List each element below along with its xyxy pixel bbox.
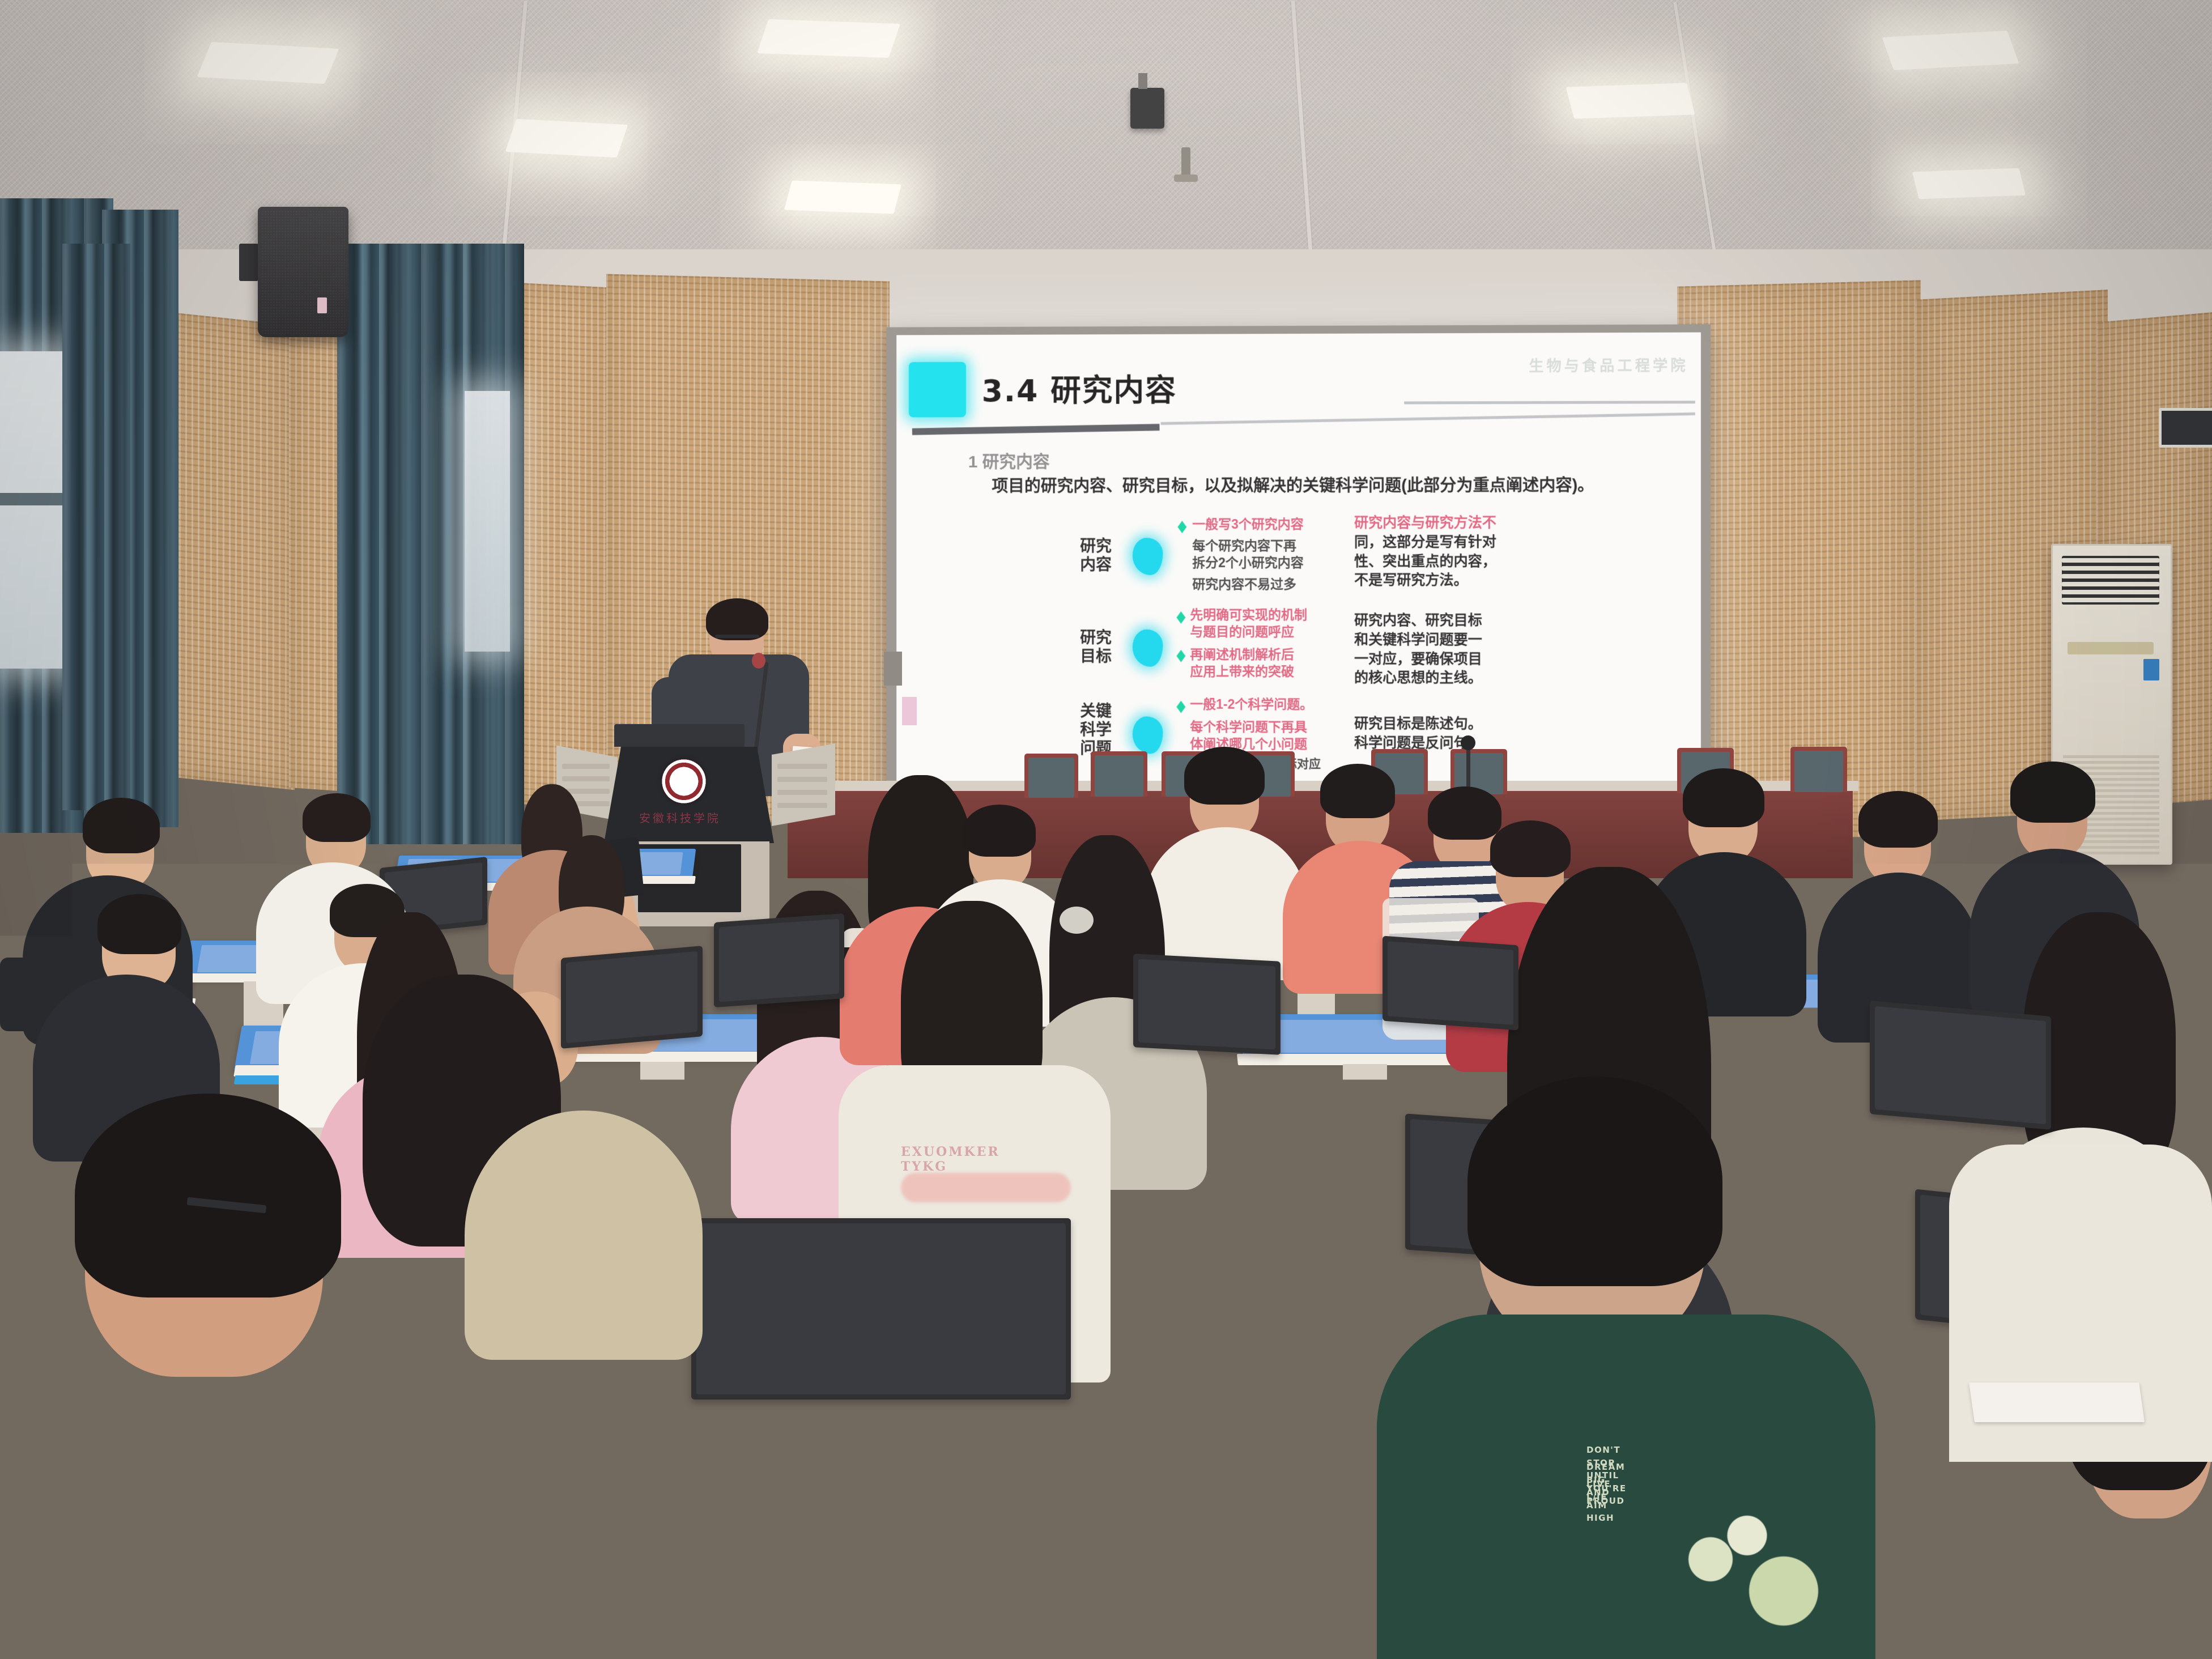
slide-row-1-blob-icon (1133, 538, 1163, 575)
chair-right-1[interactable] (1870, 1001, 2051, 1130)
slide-row-1-right-2: 同，这部分是写有针对 (1354, 533, 1525, 552)
ceiling-light-7 (1912, 168, 2026, 199)
window-right (465, 391, 510, 652)
smartphone-on-desk-center[interactable] (918, 1441, 996, 1500)
slide-row-1-bullet-icon (1177, 521, 1186, 533)
hair-tie-icon (1060, 907, 1094, 934)
slide-content: 3.4 研究内容 生物与食品工程学院 1 研究内容 项目的研究内容、研究目标，以… (896, 333, 1701, 823)
slide-row-3-right-1: 研究目标是陈述句。 (1354, 714, 1525, 734)
slide-row-1-label-line2: 内容 (1065, 555, 1126, 574)
slide-row-3-label: 关键 科学 问题 (1065, 701, 1126, 758)
chair-left-2[interactable] (714, 913, 844, 1007)
front-chair-2 (1091, 751, 1147, 797)
slide-row-2-right-3: 一对应，要确保项目 (1354, 650, 1525, 669)
curtain-window-right (62, 244, 130, 810)
slide-row-3-mid-2: 每个科学问题下再具 (1190, 719, 1338, 736)
ceiling-light-6 (1882, 31, 2019, 70)
slide-rule-dark (912, 424, 1160, 435)
slide-row-2-label-line1: 研究 (1065, 628, 1126, 647)
slide-row-3-mid-1: 一般1-2个科学问题。 (1190, 696, 1338, 713)
paper-on-desk-right-fg (1969, 1382, 2145, 1422)
front-chair-1-back (1028, 758, 1074, 798)
projection-screen: 3.4 研究内容 生物与食品工程学院 1 研究内容 项目的研究内容、研究目标，以… (896, 333, 1701, 823)
wall-monitor (2159, 408, 2212, 448)
slide-row-1-mid-4: 研究内容不易过多 (1192, 576, 1334, 593)
ac-vent-icon (2062, 556, 2159, 605)
presenter-glasses-icon (715, 635, 759, 638)
slide-row-1-label-line1: 研究 (1065, 537, 1126, 555)
chair-left-1[interactable] (561, 946, 703, 1049)
projection-screen-frame: 3.4 研究内容 生物与食品工程学院 1 研究内容 项目的研究内容、研究目标，以… (886, 324, 1711, 831)
student-hair (1490, 820, 1571, 877)
wall-speaker-icon (258, 207, 348, 337)
slide-row-2-middle: 先明确可实现的机制 与题目的问题呼应 再阐述机制解析后 应用上带来的突破 (1190, 607, 1334, 680)
slide-title: 3.4 研究内容 (982, 365, 1177, 411)
slide-row-1-mid-3: 拆分2个小研究内容 (1192, 555, 1334, 572)
window-frame-left (0, 493, 71, 505)
student-torso-plaid (17, 1484, 402, 1659)
student-hair (963, 805, 1036, 857)
slide-row-1-right-3: 性、突出重点的内容， (1354, 552, 1525, 571)
slide-row-3-label-line2: 科学 (1065, 720, 1126, 739)
slide-row-2-right-2: 和关键科学问题要一 (1354, 631, 1525, 650)
slide-row-1-mid-2: 每个研究内容下再 (1192, 538, 1334, 555)
slide-row-2-right-1: 研究内容、研究目标 (1354, 611, 1525, 631)
slide-row-1-label: 研究 内容 (1065, 537, 1126, 574)
podium-nameplate: 安徽科技学院 (639, 809, 721, 826)
ceiling-light-3 (757, 19, 900, 58)
paper-on-desk-center (1313, 1394, 1446, 1428)
chair-left-3[interactable] (1133, 954, 1281, 1055)
front-chair-2-back (1095, 755, 1143, 797)
ceiling-light-5 (1566, 83, 1695, 118)
ceiling-light-4 (784, 181, 901, 214)
podium-laptop (614, 724, 745, 747)
desk-leg (640, 1062, 684, 1121)
slide-row-2-label-line2: 目标 (1065, 647, 1126, 666)
desk-leg (1756, 1027, 1798, 1079)
front-chair-1 (1024, 754, 1078, 798)
slide-row-3-bullet-icon (1176, 701, 1185, 713)
student-torso (465, 1111, 703, 1360)
student-hair (1184, 747, 1265, 805)
lecture-hall-photo: 3.4 研究内容 生物与食品工程学院 1 研究内容 项目的研究内容、研究目标，以… (0, 0, 2212, 1659)
student-hair (1683, 768, 1764, 827)
desk-writing-surface (164, 1388, 1172, 1491)
table-mic-head-icon (1461, 735, 1475, 750)
front-chair-8 (1790, 747, 1847, 792)
speaker-indicator-icon (317, 297, 327, 313)
slide-row-2-bullet-icon-a (1176, 611, 1185, 624)
slide-row-2-mid-2: 与题目的问题呼应 (1190, 624, 1334, 641)
slide-row-1-middle: 一般写3个研究内容 每个研究内容下再 拆分2个小研究内容 研究内容不易过多 (1192, 516, 1334, 593)
chair-center-front[interactable] (691, 1218, 1071, 1399)
slide-row-2-right-4: 的核心思想的主线。 (1354, 669, 1525, 688)
slide-row-2-mid-3: 再阐述机制解析后 (1190, 646, 1334, 663)
student-hair (83, 798, 160, 853)
slide-row-2-bullet-icon-b (1176, 650, 1185, 662)
shirt-flower-graphic (1637, 1496, 1881, 1654)
slide-row-2-mid-4: 应用上带来的突破 (1190, 663, 1334, 680)
dark-bag-on-chair (1235, 1099, 1337, 1207)
slide-row-3-blob-icon (1133, 716, 1163, 754)
shirt-text-green-line3: LIVE L/IE (1586, 1478, 1611, 1503)
student-hair (2010, 762, 2095, 823)
chair-right-2[interactable] (1382, 936, 1518, 1031)
slide-lead-text: 项目的研究内容、研究目标，以及拟解决的关键科学问题(此部分为重点阐述内容)。 (992, 475, 1683, 498)
speaker-bracket (239, 244, 258, 281)
ac-energy-label (2143, 659, 2159, 680)
slide-subtitle: 1 研究内容 (968, 448, 1050, 473)
slide-row-2-mid-1: 先明确可实现的机制 (1190, 607, 1334, 624)
ceiling-light-1 (197, 42, 339, 84)
student-hair (1858, 791, 1938, 848)
slide-row-2-label: 研究 目标 (1065, 628, 1126, 666)
ac-display-panel[interactable] (2068, 642, 2154, 654)
shirt-text-center: EXUOMKER TYKG (901, 1145, 1000, 1174)
student-hair (303, 793, 371, 842)
slide-header-logo: 生物与食品工程学院 (1529, 354, 1688, 376)
slide-rule-light-2 (1161, 412, 1695, 425)
slide-row-2-right: 研究内容、研究目标 和关键科学问题要一 一对应，要确保项目 的核心思想的主线。 (1354, 611, 1525, 688)
window-left (0, 351, 68, 669)
ceiling-light-2 (505, 119, 628, 158)
front-chair-8-back (1794, 751, 1843, 792)
slide-row-2-blob-icon (1133, 629, 1163, 667)
fire-sprinkler-icon (1181, 147, 1190, 177)
slide-row-1-right-4: 不是写研究方法。 (1354, 571, 1525, 590)
student-hair (1467, 1077, 1722, 1286)
ceiling-camera-icon (1130, 88, 1164, 129)
university-crest-icon (662, 759, 706, 803)
slide-title-accent-bar (909, 362, 966, 418)
screen-pink-mark (902, 697, 917, 725)
student-hair (97, 894, 181, 954)
podium-right-slats (777, 764, 827, 808)
slide-row-1-mid-1: 一般写3个研究内容 (1192, 516, 1334, 533)
slide-rule-light (1404, 401, 1695, 404)
slide-row-3-right: 研究目标是陈述句。 科学问题是反问句。 (1354, 714, 1525, 753)
slide-row-1-right-1: 研究内容与研究方法不 (1354, 514, 1525, 533)
student-hair (1428, 786, 1501, 840)
slide-row-1-right: 研究内容与研究方法不 同，这部分是写有针对 性、突出重点的内容， 不是写研究方法… (1354, 514, 1525, 590)
podium-mic-head-icon (752, 653, 765, 669)
presenter-hair (706, 598, 768, 640)
slide-row-3-label-line1: 关键 (1065, 701, 1126, 720)
student-hair (1320, 764, 1395, 818)
shirt-smudge (901, 1173, 1071, 1202)
student-hair (75, 1094, 341, 1298)
screen-left-edge (884, 652, 902, 686)
